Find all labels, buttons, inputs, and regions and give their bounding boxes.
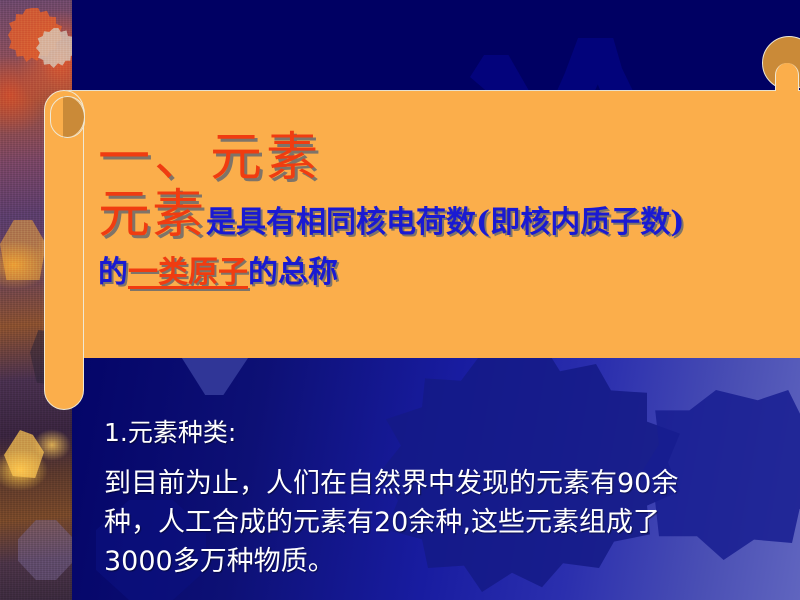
body-heading: 1.元素种类:	[104, 416, 794, 450]
body-paragraph-line: 3000多万种物质。	[104, 542, 794, 581]
definition-line-1: 元素是具有相同核电荷数(即核内质子数)	[98, 192, 798, 251]
definition-line-2: 的一类原子的总称	[98, 251, 798, 295]
definition-term: 元素	[98, 185, 206, 245]
panel-text-block: 一、元素 元素是具有相同核电荷数(即核内质子数) 的一类原子的总称	[98, 128, 798, 295]
page-title: 一、元素	[98, 128, 798, 188]
slide-canvas: 一、元素 元素是具有相同核电荷数(即核内质子数) 的一类原子的总称 1.元素种类…	[0, 0, 800, 600]
definition-line2-suffix: 的总称	[248, 255, 338, 290]
body-paragraph-line: 到目前为止，人们在自然界中发现的元素有90余	[104, 464, 794, 503]
definition-line2-emphasis: 一类原子	[128, 255, 248, 290]
definition-line2-prefix: 的	[98, 255, 128, 290]
scroll-roll-left-cap-outline	[50, 96, 85, 138]
body-paragraph: 到目前为止，人们在自然界中发现的元素有90余 种，人工合成的元素有20余种,这些…	[104, 464, 794, 581]
body-text-block: 1.元素种类: 到目前为止，人们在自然界中发现的元素有90余 种，人工合成的元素…	[104, 416, 794, 581]
definition-text: 是具有相同核电荷数(即核内质子数)	[206, 205, 684, 240]
body-paragraph-line: 种，人工合成的元素有20余种,这些元素组成了	[104, 503, 794, 542]
scroll-roll-corner-notch	[775, 63, 799, 91]
scroll-roll-left-icon	[44, 90, 84, 410]
